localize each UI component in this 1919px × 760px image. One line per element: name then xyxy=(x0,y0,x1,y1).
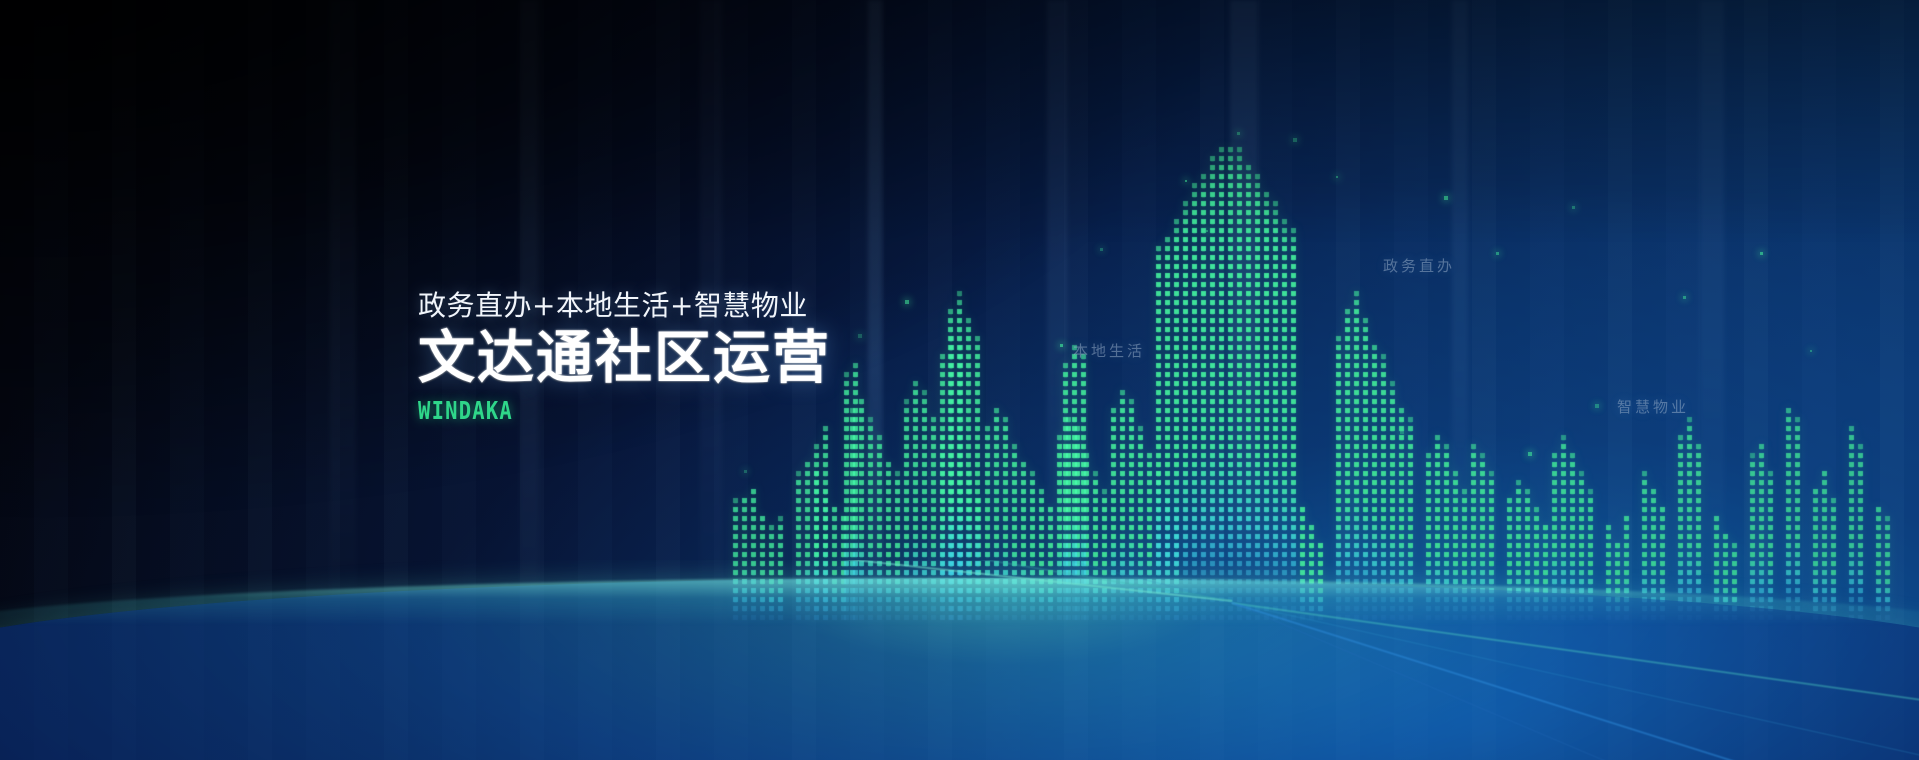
floating-label: 政务直办 xyxy=(1383,255,1455,276)
headline-block: 政务直办+本地生活+智慧物业 文达通社区运营 WINDAKA xyxy=(418,288,831,423)
floating-label: 智慧物业 xyxy=(1617,396,1689,417)
page-title: 文达通社区运营 xyxy=(418,327,831,391)
corner-vignette xyxy=(0,0,1919,760)
hero-banner: 政务直办本地生活智慧物业 政务直办+本地生活+智慧物业 文达通社区运营 WIND… xyxy=(0,0,1919,760)
brand-wordmark: WINDAKA xyxy=(418,398,757,423)
subtitle-text: 政务直办+本地生活+智慧物业 xyxy=(418,288,831,323)
floating-label: 本地生活 xyxy=(1073,340,1145,361)
